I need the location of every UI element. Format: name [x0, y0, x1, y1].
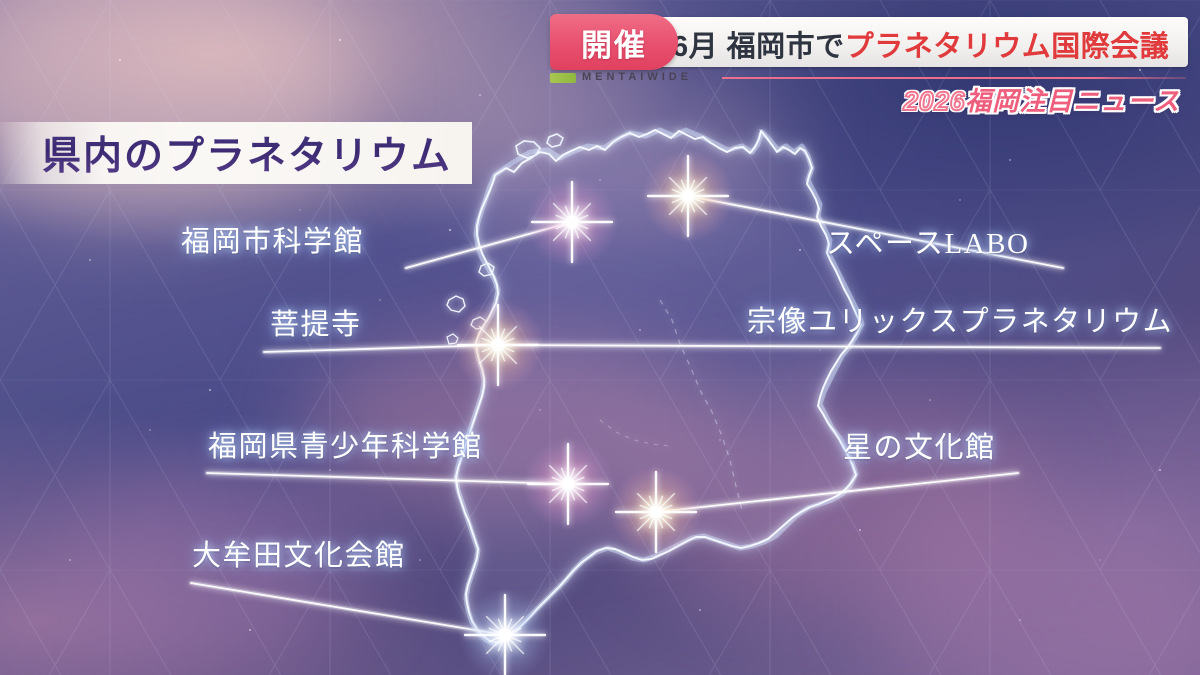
- leader-munakata: [498, 345, 1160, 348]
- map-label-omuta-bunka-kaikan: 大牟田文化会館: [192, 542, 406, 571]
- starburst-spikes: [648, 156, 728, 236]
- starburst-spikes: [532, 182, 612, 262]
- leader-hoshi: [656, 473, 1018, 512]
- nebula-cloud: [0, 0, 360, 220]
- map-label-munakata-yurix-planetarium: 宗像ユリックスプラネタリウム: [747, 308, 1173, 337]
- map-label-fukuoka-city-science-museum: 福岡市科学館: [181, 228, 364, 257]
- marker-fukuoka-city: [526, 176, 618, 268]
- banner-subtitle-year: 2026: [903, 86, 965, 116]
- banner-subtitle: 2026福岡注目ニュース: [903, 88, 1180, 114]
- leader-fukuoka-city: [406, 222, 572, 268]
- marker-omuta: [459, 589, 551, 675]
- leader-omuta: [191, 583, 505, 635]
- banner-subtitle-text: 福岡注目ニュース: [965, 86, 1180, 116]
- map-label-bodaiji: 菩提寺: [270, 311, 362, 340]
- nebula-cloud: [300, 330, 720, 520]
- nebula-cloud: [880, 520, 1200, 675]
- pink-divider-line: [722, 77, 1186, 79]
- page-title: 県内のプラネタリウム: [42, 125, 452, 181]
- map-label-space-labo: スペースLABO: [826, 230, 1029, 259]
- starburst-spikes: [465, 595, 545, 675]
- page-title-bar: 県内のプラネタリウム: [0, 122, 472, 184]
- program-rule: MENTAIWIDE: [550, 71, 1188, 84]
- marker-space-labo: [642, 150, 734, 242]
- banner-headline-prefix: 6月 福岡市で: [672, 31, 845, 63]
- map-label-hoshi-no-bunkakan: 星の文化館: [843, 434, 996, 463]
- starburst-spikes: [528, 444, 608, 524]
- kaisai-badge-label: 開催: [581, 20, 647, 65]
- green-accent-block: [550, 73, 576, 83]
- nebula-cloud: [620, 390, 1040, 600]
- news-banner: 6月 福岡市でプラネタリウム国際会議 開催 MENTAIWIDE 2026福岡注…: [546, 14, 1188, 118]
- location-markers: [452, 150, 734, 675]
- starburst-spikes: [458, 305, 538, 385]
- leader-youth-science: [207, 473, 568, 484]
- map-label-fukuoka-pref-youth-science-museum: 福岡県青少年科学館: [208, 433, 483, 462]
- banner-headline: 6月 福岡市でプラネタリウム国際会議: [672, 33, 1192, 62]
- marker-bodaiji: [452, 299, 544, 391]
- marker-youth-science: [522, 438, 614, 530]
- broadcast-graphic: 福岡市科学館スペースLABO菩提寺宗像ユリックスプラネタリウム福岡県青少年科学館…: [0, 0, 1200, 675]
- kaisai-badge: 開催: [550, 14, 678, 70]
- program-name: MENTAIWIDE: [582, 71, 692, 83]
- starburst-spikes: [616, 472, 696, 552]
- banner-headline-highlight: プラネタリウム国際会議: [845, 31, 1170, 63]
- leader-bodaiji: [264, 345, 498, 352]
- marker-hoshi-no-bunkakan: [610, 466, 702, 558]
